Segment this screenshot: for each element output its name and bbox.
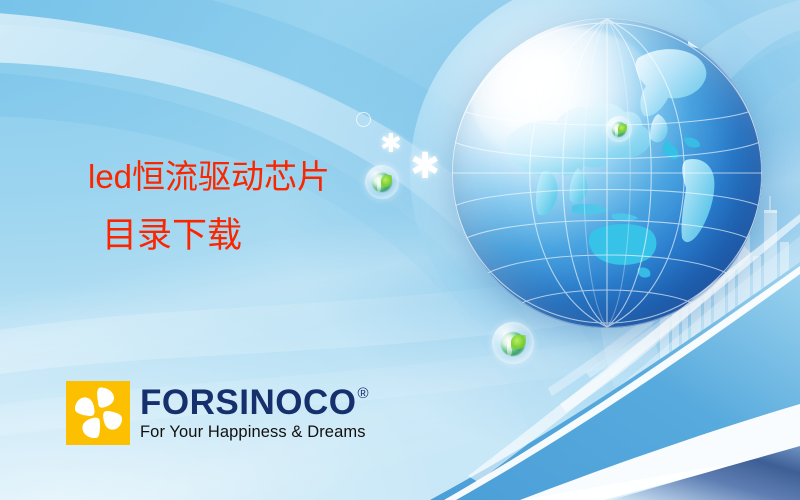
headline-line-2: 目录下载 (102, 219, 330, 254)
bubble-leaf (618, 124, 627, 133)
bubble-sprout-icon (365, 165, 399, 199)
bubble-leaf (381, 175, 393, 187)
star-sparkle-icon: ✱ (410, 148, 440, 184)
logo-wordmark: FORSINOCO ® (140, 385, 369, 420)
bubble-sprout-icon (606, 116, 632, 142)
ring-outline-icon (356, 112, 371, 127)
four-petal-pinwheel-icon (66, 381, 130, 445)
logo-text-block: FORSINOCO ® For Your Happiness & Dreams (140, 385, 369, 442)
promo-banner: ✱ ✱ led恒流驱动芯片 目录下载 (0, 0, 800, 500)
brand-logo[interactable]: FORSINOCO ® For Your Happiness & Dreams (66, 381, 369, 445)
bubble-sprout-icon (492, 322, 534, 364)
logo-tagline: For Your Happiness & Dreams (140, 423, 369, 442)
star-sparkle-icon: ✱ (380, 130, 402, 156)
registered-trademark-icon: ® (357, 386, 369, 401)
headline-line-1: led恒流驱动芯片 (88, 160, 330, 193)
headline-block: led恒流驱动芯片 目录下载 (88, 160, 330, 254)
bubble-leaf (511, 335, 525, 349)
logo-wordmark-text: FORSINOCO (140, 385, 356, 420)
